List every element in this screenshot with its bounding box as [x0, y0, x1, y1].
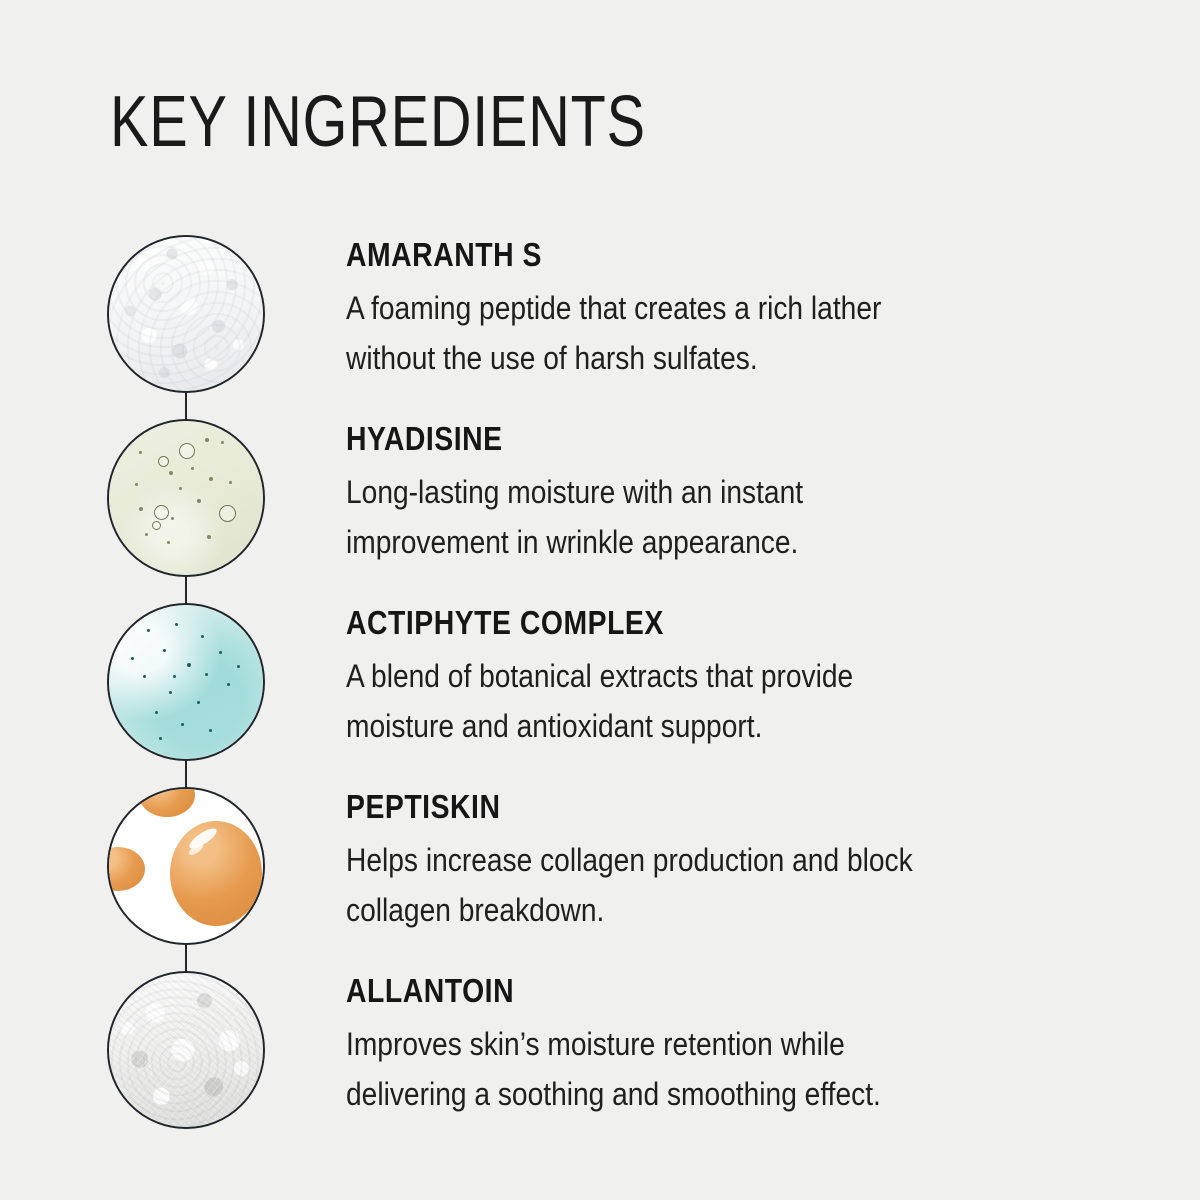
gel-speck	[219, 651, 222, 654]
green-gel-bubbles-swatch	[107, 419, 265, 577]
green-gel-texture	[109, 421, 263, 575]
ingredient-item-amaranth-s: AMARANTH S A foaming peptide that create…	[346, 236, 1106, 383]
gel-speck	[159, 737, 162, 740]
gel-dot	[179, 487, 182, 490]
ingredient-description-line: collagen breakdown.	[346, 885, 1015, 935]
gel-dot	[221, 441, 224, 444]
gel-bubble	[179, 443, 195, 459]
white-powder-swatch	[107, 971, 265, 1129]
foam-texture	[109, 237, 263, 391]
ingredient-description-line: delivering a soothing and smoothing effe…	[346, 1069, 1015, 1119]
ingredient-description-line: A blend of botanical extracts that provi…	[346, 651, 1015, 701]
gel-dot	[207, 535, 211, 539]
key-ingredients-panel: KEY INGREDIENTS	[0, 0, 1200, 1200]
gel-dot	[205, 438, 209, 442]
gel-speck	[209, 729, 212, 732]
ingredient-name: ALLANTOIN	[346, 972, 1000, 1010]
ingredient-description-line: A foaming peptide that creates a rich la…	[346, 283, 1015, 333]
gel-bubble	[152, 521, 161, 530]
gel-speck	[131, 657, 134, 660]
gel-dot	[145, 533, 148, 536]
rail-connector-1	[185, 392, 187, 422]
ingredient-description: Improves skin’s moisture retention while…	[346, 1019, 1015, 1119]
gel-speck	[173, 675, 176, 678]
ingredient-item-allantoin: ALLANTOIN Improves skin’s moisture reten…	[346, 972, 1106, 1119]
gel-dot	[139, 451, 142, 454]
gel-speck	[155, 711, 158, 714]
gel-dot	[209, 477, 213, 481]
ingredient-name: HYADISINE	[346, 420, 1000, 458]
ingredient-item-actiphyte-complex: ACTIPHYTE COMPLEX A blend of botanical e…	[346, 604, 1106, 751]
orange-droplets-swatch	[107, 787, 265, 945]
gel-speck	[197, 701, 200, 704]
powder-texture	[109, 973, 263, 1127]
gel-speck	[187, 663, 191, 667]
gel-dot	[169, 471, 173, 475]
ingredient-swatch-rail	[107, 235, 265, 1130]
ingredient-name: PEPTISKIN	[346, 788, 1000, 826]
ingredient-description-line: Helps increase collagen production and b…	[346, 835, 1015, 885]
ingredient-description-line: moisture and antioxidant support.	[346, 701, 1015, 751]
foam-white-swatch	[107, 235, 265, 393]
gel-speck	[175, 623, 178, 626]
gel-dot	[139, 507, 143, 511]
aqua-gel-speckles-swatch	[107, 603, 265, 761]
gel-bubble	[158, 456, 169, 467]
gel-speck	[163, 649, 166, 652]
gel-dot	[171, 517, 174, 520]
gel-speck	[201, 635, 204, 638]
ingredient-description-line: without the use of harsh sulfates.	[346, 333, 1015, 383]
ingredient-item-peptiskin: PEPTISKIN Helps increase collagen produc…	[346, 788, 1106, 935]
gel-speck	[169, 691, 172, 694]
ingredient-description-line: improvement in wrinkle appearance.	[346, 517, 1015, 567]
gel-speck	[147, 629, 150, 632]
ingredient-description: Long-lasting moisture with an instant im…	[346, 467, 1015, 567]
gel-dot	[135, 483, 138, 486]
ingredient-description-line: Improves skin’s moisture retention while	[346, 1019, 1015, 1069]
page-title: KEY INGREDIENTS	[110, 86, 646, 158]
ingredient-description: A foaming peptide that creates a rich la…	[346, 283, 1015, 383]
gel-speck	[227, 683, 230, 686]
rail-connector-4	[185, 944, 187, 974]
ingredient-description: A blend of botanical extracts that provi…	[346, 651, 1015, 751]
gel-dot	[197, 499, 201, 503]
ingredient-description: Helps increase collagen production and b…	[346, 835, 1015, 935]
aqua-gel-texture	[109, 605, 263, 759]
orange-droplet	[107, 847, 145, 891]
gel-dot	[191, 467, 194, 470]
orange-droplet-texture	[109, 789, 263, 943]
gel-dot	[167, 541, 170, 544]
ingredient-name: AMARANTH S	[346, 236, 1000, 274]
rail-connector-2	[185, 576, 187, 606]
ingredient-description-line: Long-lasting moisture with an instant	[346, 467, 1015, 517]
ingredient-item-hyadisine: HYADISINE Long-lasting moisture with an …	[346, 420, 1106, 567]
gel-speck	[143, 675, 146, 678]
rail-connector-3	[185, 760, 187, 790]
gel-speck	[237, 665, 240, 668]
gel-speck	[205, 673, 208, 676]
gel-dot	[229, 481, 232, 484]
orange-droplet	[170, 821, 262, 926]
gel-bubble	[154, 505, 169, 520]
orange-droplet	[139, 787, 195, 817]
gel-speck	[181, 723, 184, 726]
gel-bubble	[219, 505, 236, 522]
ingredient-name: ACTIPHYTE COMPLEX	[346, 604, 1000, 642]
